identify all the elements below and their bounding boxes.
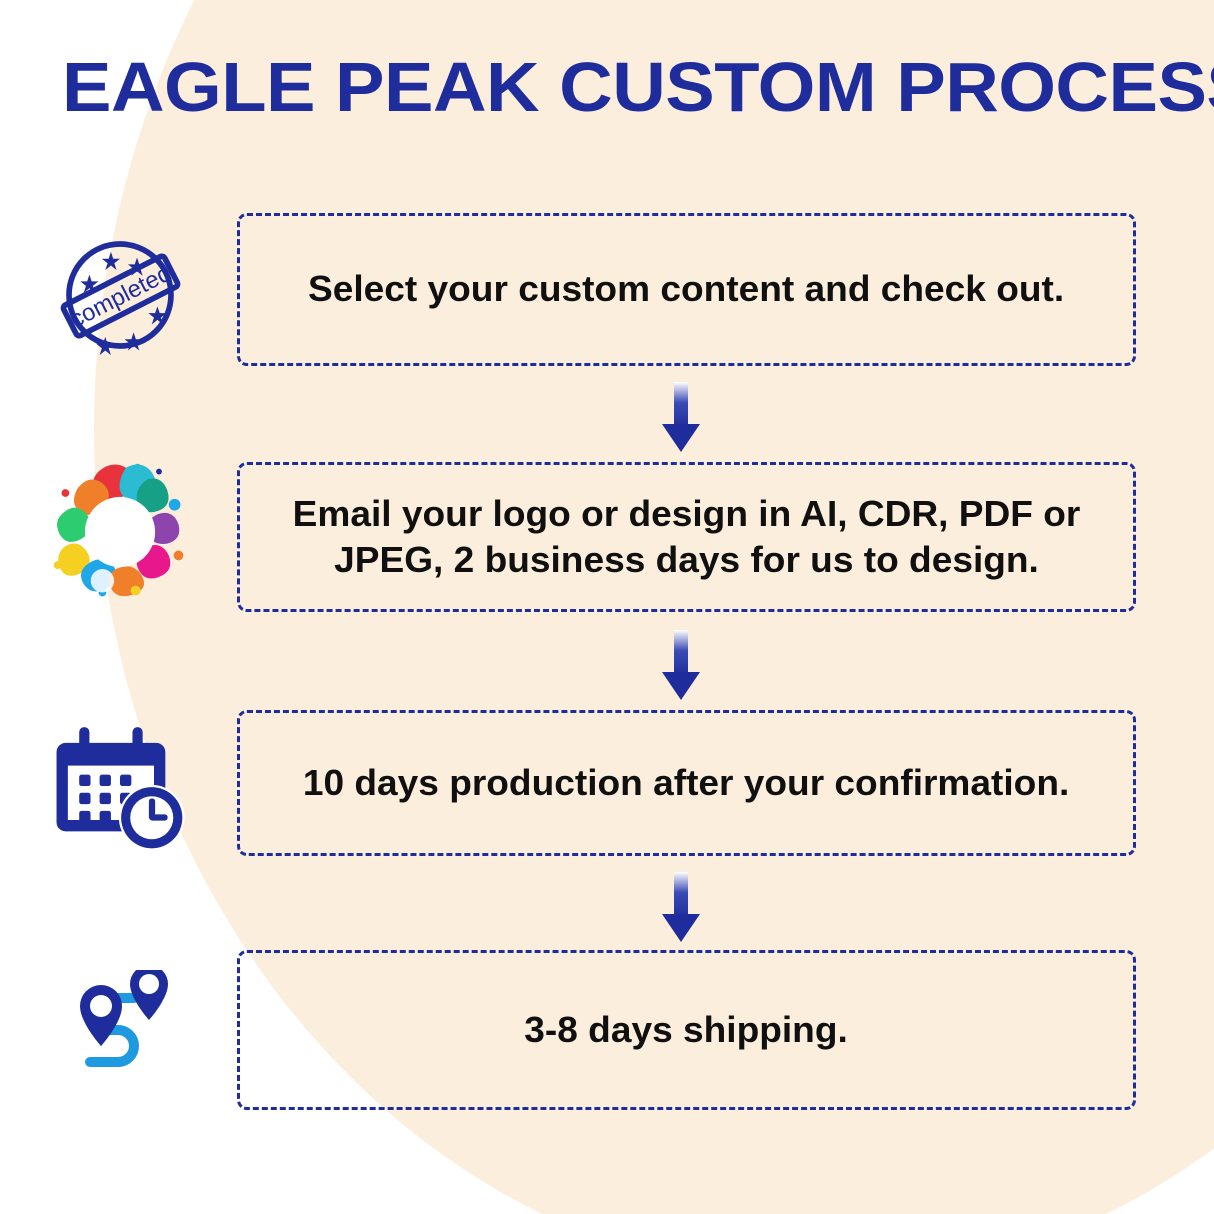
arrow-step-1-to-2	[652, 382, 710, 454]
paint-splatter-ring-icon	[42, 454, 198, 610]
step-2-text: Email your logo or design in AI, CDR, PD…	[227, 491, 1147, 583]
step-3-text: 10 days production after your confirmati…	[276, 760, 1096, 806]
arrow-step-2-to-3	[652, 630, 710, 702]
arrow-step-3-to-4	[652, 872, 710, 944]
calendar-clock-icon	[52, 718, 188, 854]
step-1-text: Select your custom content and check out…	[282, 266, 1092, 312]
step-4-box: 3-8 days shipping.	[237, 950, 1136, 1110]
step-1-box: Select your custom content and check out…	[237, 213, 1136, 366]
infographic-canvas: EAGLE PEAK CUSTOM PROCESS completed	[0, 0, 1214, 1214]
step-2-box: Email your logo or design in AI, CDR, PD…	[237, 462, 1136, 612]
shipping-route-pins-icon	[54, 970, 176, 1080]
step-4-text: 3-8 days shipping.	[498, 1007, 875, 1053]
step-3-box: 10 days production after your confirmati…	[237, 710, 1136, 856]
page-title: EAGLE PEAK CUSTOM PROCESS	[62, 52, 1214, 122]
completed-stamp-icon: completed	[52, 227, 188, 363]
